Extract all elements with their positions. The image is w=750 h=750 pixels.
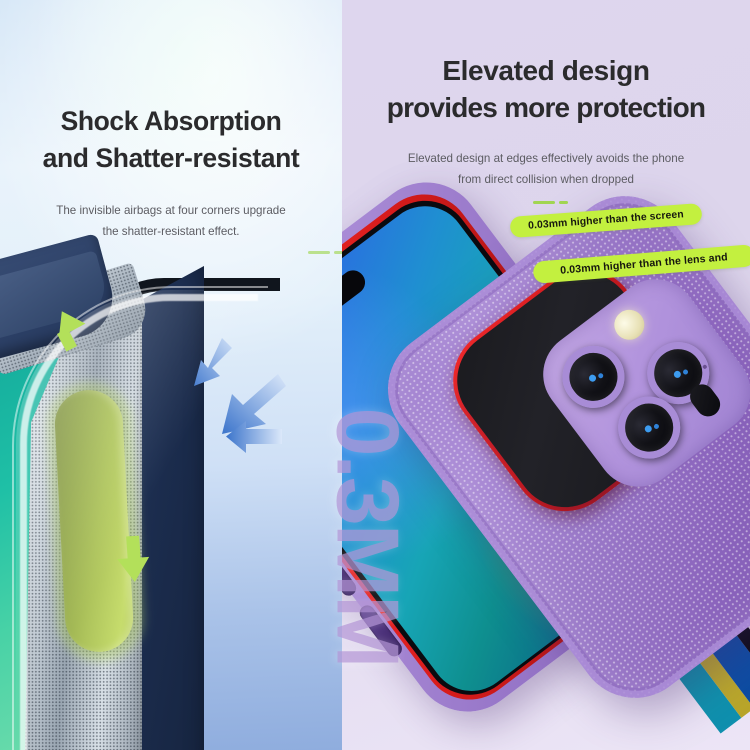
right-headline-line1: Elevated design [342,55,750,87]
right-headline-line2: provides more protection [342,92,750,124]
right-subtitle-line2: from direct collision when dropped [458,173,634,186]
right-subtitle-line1: Elevated design at edges effectively avo… [408,152,684,165]
thickness-watermark: 0.3MM [316,408,418,667]
left-subtitle-line2: the shatter-resistant effect. [26,221,316,242]
arrow-down-stem [126,536,141,563]
left-subtitle: The invisible airbags at four corners up… [0,200,342,243]
left-headline: Shock Absorption and Shatter-resistant [0,106,342,173]
right-subtitle: Elevated design at edges effectively avo… [342,148,750,191]
left-subtitle-line1: The invisible airbags at four corners up… [56,204,285,217]
right-headline: Elevated design provides more protection [342,55,750,125]
right-accent-dash [533,201,568,204]
left-accent-dash [308,251,343,254]
flash-icon [608,304,650,346]
impact-arrow-icon [224,420,284,454]
left-headline-line2: and Shatter-resistant [0,143,342,174]
left-headline-line1: Shock Absorption [0,106,342,137]
product-feature-image: Shock Absorption and Shatter-resistant T… [0,0,750,750]
